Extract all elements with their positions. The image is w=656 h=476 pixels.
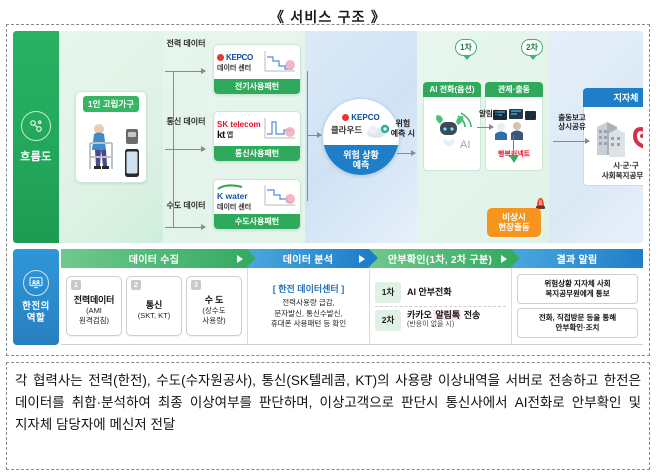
analysis-content: [ 한전 데이터센터 ] 전력사용량 급감, 문자발신, 통신수발신, 휴대폰 … [271, 282, 346, 331]
stage-result-notification: 결과 알림 위험상황 지자체 사회복지공무원에게 통보 전화, 직접방문 등을 … [511, 249, 643, 345]
card-number: 3 [191, 280, 201, 290]
arrow-down-stem [513, 135, 514, 157]
cloud-circle: KEPCO 클라우드 위험 상황예측 [322, 98, 400, 176]
kepco-sub-label: 데이터 센터 [217, 63, 261, 73]
alimtalk-arrow-label: 알림톡 [479, 109, 500, 118]
cloud-label: 클라우드 [331, 124, 362, 136]
data-label-water: 수도 데이터 [163, 201, 209, 211]
stage-data-collection: 데이터 수집 1 전력데이터 (AMI원격검침) 2 통신 [61, 249, 247, 345]
risk-prediction-arrow-label: 위험예측 시 [391, 119, 415, 139]
line-chart-icon [263, 49, 297, 78]
provider-card-kepco: KEPCO 데이터 센터 전기사용패턴 [213, 44, 301, 95]
step-divider [375, 306, 506, 307]
chevron-right-icon [359, 255, 365, 263]
collection-card-water: 3 수 도 (상수도사용량) [186, 276, 242, 336]
kepco-cloud-logo-icon: KEPCO [342, 113, 379, 122]
provider-card-telecom: SK telecom kt 앱 통신사용패턴 [213, 111, 301, 162]
korea-gov-emblem-icon [631, 121, 643, 149]
wellness-steps: 1차 AI 안부전화 2차 카카오 알림톡 전송 (반응이 없을 시) [375, 282, 506, 331]
app-label: 앱 [227, 130, 233, 140]
stage-wellness-check: 안부확인(1차, 2차 구분) 1차 AI 안부전화 2차 [369, 249, 511, 345]
card-number: 2 [131, 280, 141, 290]
kwater-logo-icon: K water [217, 184, 261, 201]
monitoring-people-icon [23, 270, 49, 296]
step-1-text: AI 안부전화 [407, 287, 452, 298]
ai-call-panel: AI 전화(옵션) AI [423, 82, 481, 171]
arrow-to-government [553, 141, 589, 142]
service-structure-figure: 흐름도 1인 고립가구 [6, 24, 650, 356]
chevron-right-icon [501, 255, 507, 263]
analysis-body: 전력사용량 급감, 문자발신, 통신수발신, 휴대폰 사용패턴 등 확인 [271, 298, 346, 331]
badge-first-contact: 1차 [455, 39, 477, 56]
government-head: 지자체 [583, 88, 643, 107]
wellness-step-2: 2차 카카오 알림톡 전송 (반응이 없을 시) [375, 310, 506, 331]
kepco-role-band: 한전의역할 데이터 수집 1 전력데이터 (AMI원격검침) [13, 249, 643, 345]
caption-box: 각 협력사는 전력(한전), 수도(수자원공사), 통신(SK텔레콤, KT)의… [6, 362, 650, 470]
ai-robot-icon: AI [428, 108, 476, 159]
wellness-step-1: 1차 AI 안부전화 [375, 282, 506, 303]
flow-diagram: 흐름도 1인 고립가구 [13, 31, 643, 243]
ai-call-head: AI 전화(옵션) [423, 82, 481, 97]
local-government-zone: 출동보고상시공유 지자체 [549, 31, 643, 243]
arrow-down-head [509, 155, 519, 163]
cloud-prediction-label: 위험 상황예측 [323, 145, 399, 175]
ai-text: AI [460, 139, 470, 151]
household-tag: 1인 고립가구 [83, 96, 139, 112]
stage-list: 데이터 수집 1 전력데이터 (AMI원격검침) 2 통신 [61, 249, 643, 345]
chevron-right-icon [237, 255, 243, 263]
result-box-action: 전화, 직접방문 등을 통해안부확인·조치 [517, 308, 638, 338]
data-label-power: 전력 데이터 [163, 39, 209, 49]
skt-logo-icon: SK telecom [217, 120, 261, 129]
collection-card-power: 1 전력데이터 (AMI원격검침) [66, 276, 122, 336]
household-card: 1인 고립가구 [75, 91, 147, 183]
arrow-cloud-to-response [397, 153, 415, 154]
result-list: 위험상황 지자체 사회복지공무원에게 통보 전화, 직접방문 등을 통해안부확인… [517, 274, 638, 339]
government-caption: 시·군·구사회복지공무원 [602, 161, 643, 181]
step-2-tag: 2차 [375, 310, 401, 331]
data-label-telecom: 통신 데이터 [163, 117, 209, 127]
kepco-footer-label: 전기사용패턴 [214, 79, 300, 94]
emergency-dispatch-box: 비상시현장출동 [487, 208, 541, 237]
role-sidebar: 한전의역할 [13, 249, 59, 345]
cloud-zone: KEPCO 클라우드 위험 상황예측 [305, 31, 417, 243]
collection-card-telecom: 2 통신 (SKT, KT) [126, 276, 182, 336]
card-number: 1 [71, 280, 81, 290]
elderly-person-walker-icon [82, 115, 140, 179]
household-zone: 1인 고립가구 [59, 31, 163, 243]
arrow-to-cloud [307, 135, 321, 136]
step-1-tag: 1차 [375, 282, 401, 303]
role-sidebar-label: 한전의역할 [22, 301, 50, 324]
kt-logo-icon: kt [217, 130, 225, 141]
line-chart-icon [263, 183, 297, 212]
stage-2-head: 데이터 분석 [247, 249, 369, 268]
arrow-ai-to-control [477, 127, 493, 128]
branch-line [173, 71, 174, 227]
provider-cards: KEPCO 데이터 센터 전기사용패턴 [209, 31, 305, 243]
government-card: 지자체 [583, 88, 643, 186]
response-zone: 1차 2차 AI 전화(옵션) [417, 31, 549, 243]
stage-1-head: 데이터 수집 [61, 249, 247, 268]
cloud-gear-icon [365, 123, 391, 138]
kepco-logo-icon: KEPCO [217, 53, 261, 62]
badge-second-contact: 2차 [521, 39, 543, 56]
caption-text: 각 협력사는 전력(한전), 수도(수자원공사), 통신(SK텔레콤, KT)의… [15, 370, 641, 436]
flow-sidebar-label: 흐름도 [20, 148, 52, 164]
arrow-to-kwater [165, 227, 205, 228]
arrow-to-telecom [165, 149, 205, 150]
building-icon [593, 113, 627, 157]
network-nodes-icon [21, 111, 51, 141]
arrow-to-kepco [165, 71, 205, 72]
stage-4-head: 결과 알림 [511, 249, 643, 268]
provider-card-kwater: K water 데이터 센터 수도사용패턴 [213, 179, 301, 230]
result-box-notify: 위험상황 지자체 사회복지공무원에게 통보 [517, 274, 638, 304]
flow-sidebar: 흐름도 [13, 31, 59, 243]
stage-3-head: 안부확인(1차, 2차 구분) [369, 249, 511, 268]
line-chart-icon [263, 116, 297, 145]
telecom-footer-label: 통신사용패턴 [214, 146, 300, 161]
stage-data-analysis: 데이터 분석 [ 한전 데이터센터 ] 전력사용량 급감, 문자발신, 통신수발… [247, 249, 369, 345]
step-2-text: 카카오 알림톡 전송 (반응이 없을 시) [407, 310, 480, 329]
dispatch-report-arrow-label: 출동보고상시공유 [553, 113, 591, 131]
control-dispatch-head: 관제·출동 [485, 82, 543, 97]
kwater-sub-label: 데이터 센터 [217, 202, 261, 212]
kwater-footer-label: 수도사용패턴 [214, 214, 300, 229]
analysis-title: [ 한전 데이터센터 ] [271, 282, 346, 295]
data-label-column: 전력 데이터 통신 데이터 수도 데이터 [163, 31, 209, 243]
